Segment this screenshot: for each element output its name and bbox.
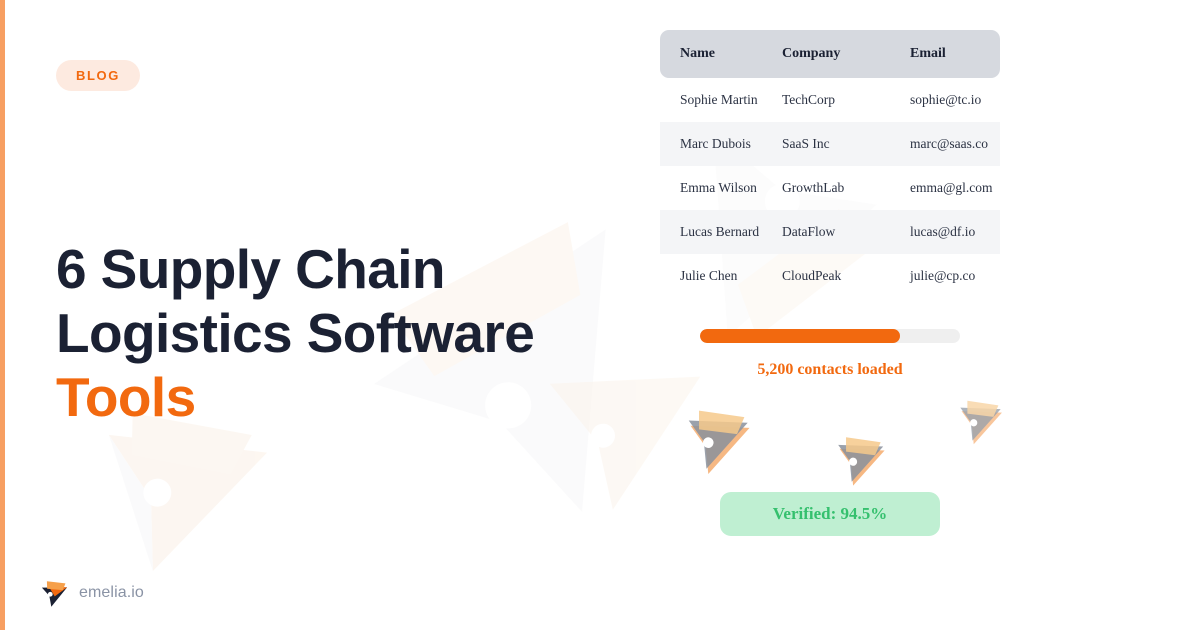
blog-category-badge: BLOG bbox=[56, 60, 140, 91]
brand-footer: emelia.io bbox=[38, 578, 144, 608]
progress-fill bbox=[700, 329, 900, 343]
paper-plane-cluster bbox=[660, 395, 1020, 495]
left-accent-stripe bbox=[0, 0, 5, 630]
cell-name: Lucas Bernard bbox=[660, 210, 782, 254]
paper-plane-logo-icon bbox=[38, 578, 68, 608]
cell-name: Sophie Martin bbox=[660, 78, 782, 122]
headline-line-3-accent: Tools bbox=[56, 366, 196, 428]
paper-plane-icon bbox=[830, 433, 888, 491]
cell-email: emma@gl.com bbox=[910, 166, 1000, 210]
table-row: Marc Dubois SaaS Inc marc@saas.co bbox=[660, 122, 1000, 166]
right-illustration-column: Name Company Email Sophie Martin TechCor… bbox=[660, 0, 1200, 630]
table-row: Lucas Bernard DataFlow lucas@df.io bbox=[660, 210, 1000, 254]
cell-email: julie@cp.co bbox=[910, 254, 1000, 298]
column-header-company: Company bbox=[782, 30, 910, 78]
cell-company: TechCorp bbox=[782, 78, 910, 122]
contacts-table-header: Name Company Email bbox=[660, 30, 1000, 78]
headline-line-2: Logistics Software bbox=[56, 302, 534, 364]
social-share-card: BLOG 6 Supply Chain Logistics Software T… bbox=[0, 0, 1200, 630]
contacts-progress: 5,200 contacts loaded bbox=[700, 329, 960, 379]
paper-plane-icon bbox=[678, 405, 754, 481]
column-header-name: Name bbox=[660, 30, 782, 78]
left-content-column: BLOG 6 Supply Chain Logistics Software T… bbox=[56, 0, 676, 630]
table-header-row: Name Company Email bbox=[660, 30, 1000, 78]
column-header-email: Email bbox=[910, 30, 1000, 78]
table-row: Julie Chen CloudPeak julie@cp.co bbox=[660, 254, 1000, 298]
page-title: 6 Supply Chain Logistics Software Tools bbox=[56, 237, 656, 429]
cell-company: DataFlow bbox=[782, 210, 910, 254]
contacts-table-body: Sophie Martin TechCorp sophie@tc.io Marc… bbox=[660, 78, 1000, 298]
progress-label: 5,200 contacts loaded bbox=[700, 361, 960, 379]
contacts-table: Name Company Email Sophie Martin TechCor… bbox=[660, 30, 1000, 298]
cell-name: Marc Dubois bbox=[660, 122, 782, 166]
table-row: Sophie Martin TechCorp sophie@tc.io bbox=[660, 78, 1000, 122]
table-row: Emma Wilson GrowthLab emma@gl.com bbox=[660, 166, 1000, 210]
cell-email: sophie@tc.io bbox=[910, 78, 1000, 122]
brand-name-label: emelia.io bbox=[79, 584, 144, 602]
cell-company: SaaS Inc bbox=[782, 122, 910, 166]
cell-email: marc@saas.co bbox=[910, 122, 1000, 166]
cell-company: CloudPeak bbox=[782, 254, 910, 298]
headline-line-1: 6 Supply Chain bbox=[56, 238, 445, 300]
cell-company: GrowthLab bbox=[782, 166, 910, 210]
verified-status-badge: Verified: 94.5% bbox=[720, 492, 940, 536]
progress-track bbox=[700, 329, 960, 343]
cell-email: lucas@df.io bbox=[910, 210, 1000, 254]
cell-name: Julie Chen bbox=[660, 254, 782, 298]
cell-name: Emma Wilson bbox=[660, 166, 782, 210]
paper-plane-icon bbox=[953, 397, 1005, 449]
